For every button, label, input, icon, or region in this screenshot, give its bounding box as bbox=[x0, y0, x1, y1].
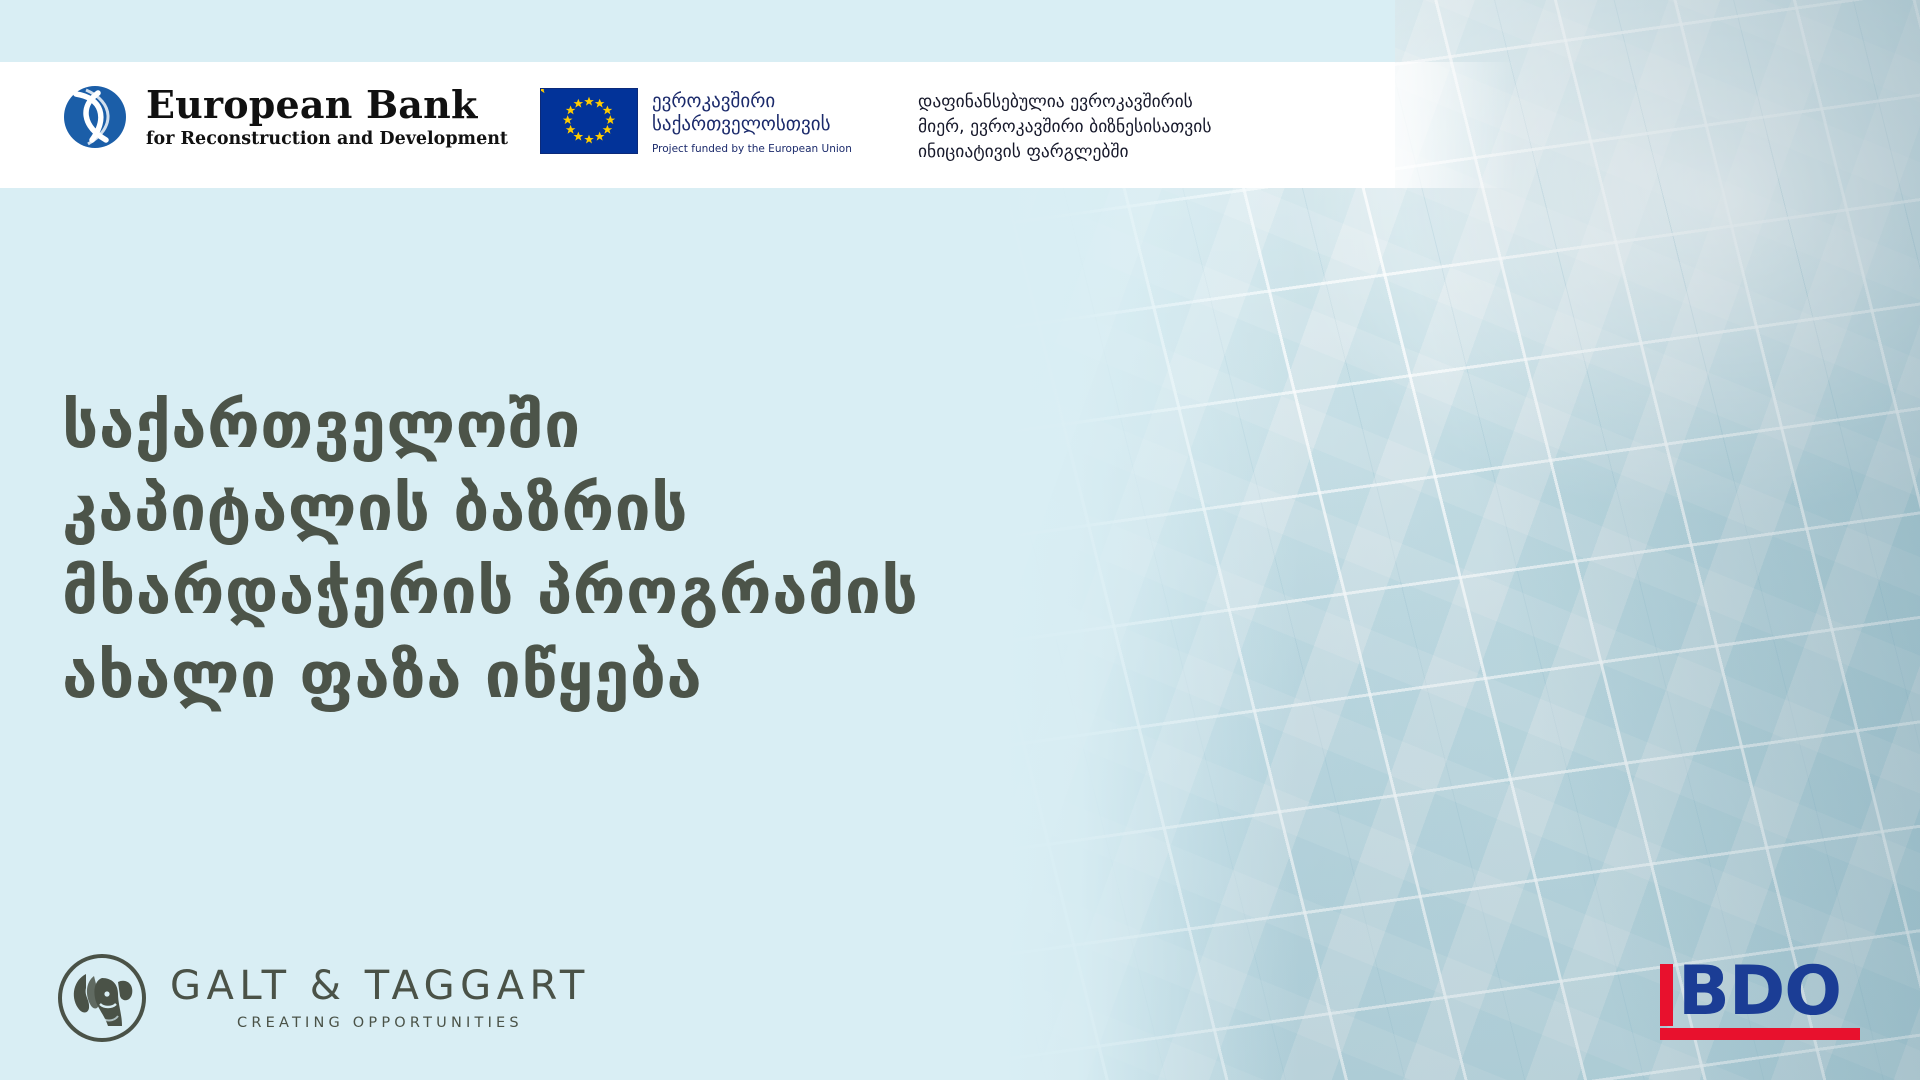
ram-head-emblem-icon bbox=[56, 952, 148, 1044]
bdo-logo: BDO bbox=[1660, 960, 1860, 1048]
funding-note-line2: მიერ, ევროკავშირი ბიზნესისათვის bbox=[918, 115, 1338, 140]
headline-line-1: საქართველოში bbox=[62, 385, 918, 468]
eu-flag-icon bbox=[540, 88, 638, 154]
eu-text-line2: საქართველოსთვის bbox=[652, 113, 852, 136]
headline: საქართველოში კაპიტალის ბაზრის მხარდაჭერი… bbox=[62, 385, 918, 718]
ebrd-logo: European Bank for Reconstruction and Dev… bbox=[62, 84, 508, 150]
eu-logo: ევროკავშირი საქართველოსთვის Project fund… bbox=[540, 88, 852, 155]
galt-taggart-tagline: CREATING OPPORTUNITIES bbox=[170, 1016, 590, 1031]
funding-note: დაფინანსებულია ევროკავშირის მიერ, ევროკა… bbox=[918, 90, 1338, 165]
logo-bar-right-fade bbox=[1325, 62, 1515, 188]
galt-taggart-logo: GALT & TAGGART CREATING OPPORTUNITIES bbox=[56, 952, 590, 1044]
ebrd-name-line1: European Bank bbox=[146, 86, 508, 124]
funding-note-line1: დაფინანსებულია ევროკავშირის bbox=[918, 90, 1338, 115]
top-strip bbox=[0, 0, 1395, 62]
eu-text-line1: ევროკავშირი bbox=[652, 90, 852, 113]
headline-line-4: ახალი ფაზა იწყება bbox=[62, 635, 918, 718]
logo-bar: European Bank for Reconstruction and Dev… bbox=[0, 62, 1395, 188]
bdo-red-vertical-bar bbox=[1660, 964, 1673, 1026]
ebrd-circles-icon bbox=[62, 84, 128, 150]
headline-line-3: მხარდაჭერის პროგრამის bbox=[62, 551, 918, 634]
eu-caption: Project funded by the European Union bbox=[652, 143, 852, 155]
ebrd-name-line2: for Reconstruction and Development bbox=[146, 131, 508, 149]
galt-taggart-name: GALT & TAGGART bbox=[170, 966, 590, 1006]
headline-line-2: კაპიტალის ბაზრის bbox=[62, 468, 918, 551]
funding-note-line3: ინიციატივის ფარგლებში bbox=[918, 140, 1338, 165]
bdo-wordmark: BDO bbox=[1678, 958, 1841, 1026]
